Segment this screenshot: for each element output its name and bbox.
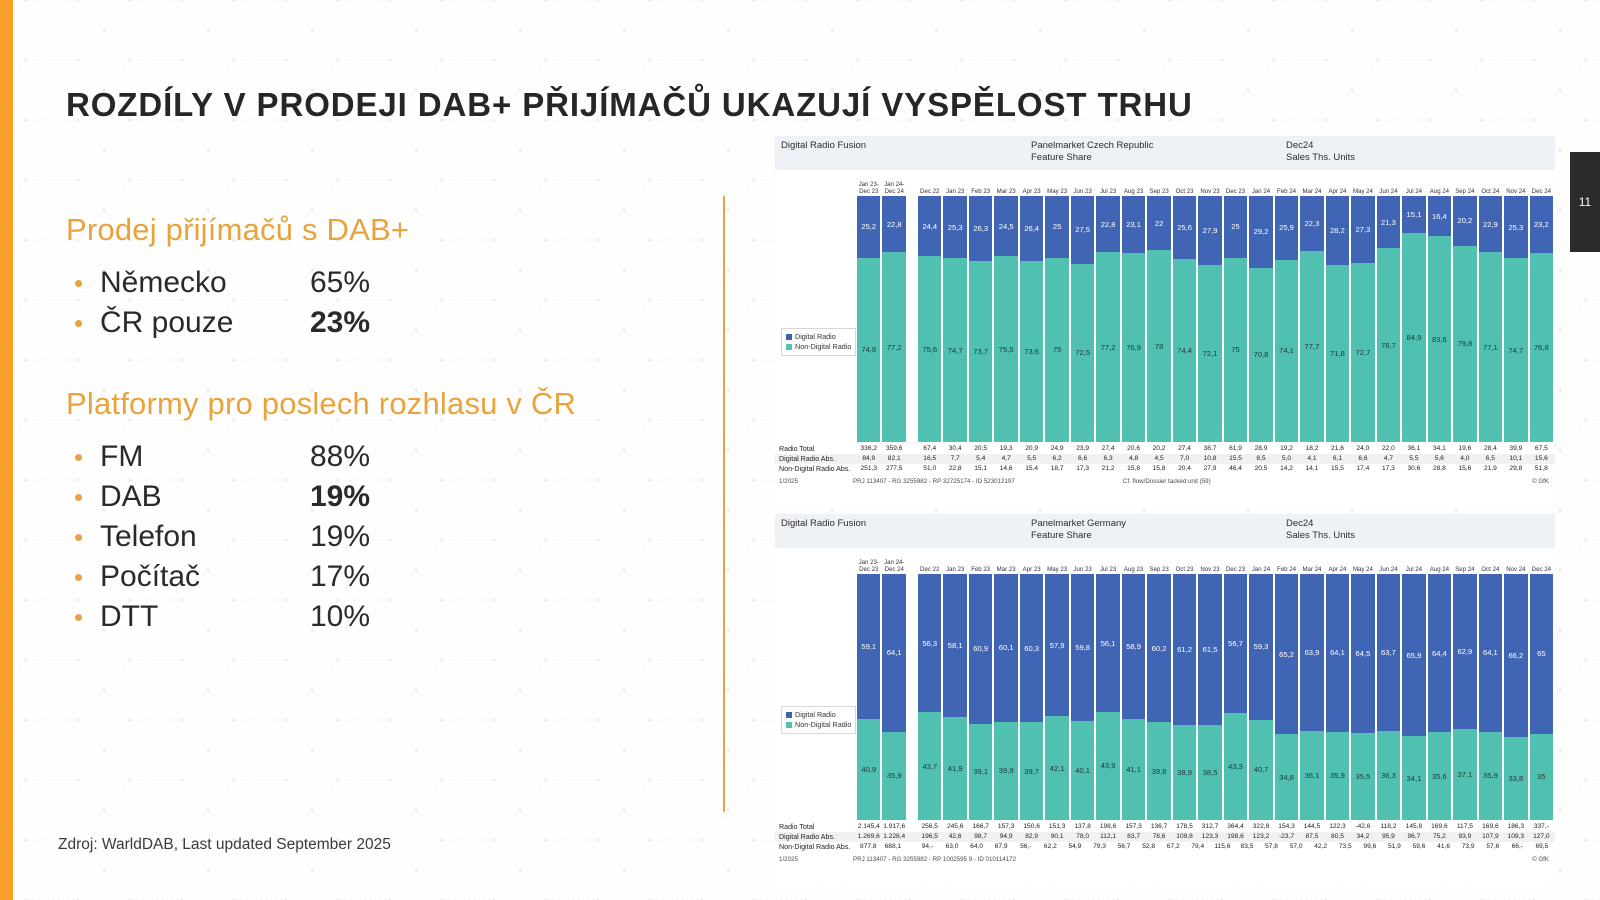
bar-column: Jan 2325,374,7 xyxy=(943,174,966,442)
table-cell: 18,2 xyxy=(1300,444,1323,454)
table-cell: 24,0 xyxy=(1351,444,1374,454)
chart-market-line1: Panelmarket Germany xyxy=(1031,518,1286,530)
x-axis-tick-label: Jun 24 xyxy=(1377,552,1400,574)
bar-segment-digital-radio: 60,3 xyxy=(1020,574,1043,722)
bar-segment-digital-radio: 25,3 xyxy=(1504,196,1527,258)
table-cell: 73,5 xyxy=(1334,842,1357,852)
bar-value-label: 22,9 xyxy=(1483,220,1498,229)
bar-segment-digital-radio: 66,2 xyxy=(1504,574,1527,737)
legend-label: Digital Radio xyxy=(795,332,836,342)
x-axis-tick-label: Jul 24 xyxy=(1402,552,1425,574)
table-cell: 15,5 xyxy=(1224,454,1247,464)
table-cell: 17,4 xyxy=(1351,464,1374,474)
x-axis-tick-label: Mar 23 xyxy=(994,174,1017,196)
bar-stack: 65,234,8 xyxy=(1275,574,1298,820)
bar-column: Dec 232575 xyxy=(1224,174,1247,442)
table-cell: 82,9 xyxy=(1020,832,1043,842)
bar-value-label: 36,3 xyxy=(1381,771,1396,780)
table-cell: 67,5 xyxy=(1530,444,1553,454)
chart-plot-area: Digital RadioNon-Digital RadioJan 23- De… xyxy=(775,170,1555,470)
bar-value-label: 25,9 xyxy=(1279,223,1294,232)
bar-column: Jan 2358,141,9 xyxy=(943,552,966,820)
bar-column: Feb 2465,234,8 xyxy=(1275,552,1298,820)
bar-stack: 64,135,9 xyxy=(1326,574,1349,820)
table-cell: 688,1 xyxy=(882,842,905,852)
chart-data-table: Radio Total336,2359,667,430,420,519,320,… xyxy=(775,444,1555,474)
bar-stack: 65,934,1 xyxy=(1402,574,1425,820)
bar-stack: 59,140,9 xyxy=(857,574,880,820)
table-cell: -42,6 xyxy=(1351,822,1374,832)
bar-value-label: 75 xyxy=(1231,345,1239,354)
table-cell: 90,1 xyxy=(1045,832,1068,842)
bar-value-label: 39,9 xyxy=(999,766,1014,775)
table-cell: 39,9 xyxy=(1504,444,1527,454)
bar-value-label: 27,9 xyxy=(1203,226,1218,235)
x-axis-tick-label: Jan 24- Dec 24 xyxy=(882,552,905,574)
table-cell: 154,3 xyxy=(1275,822,1298,832)
bar-column: Jan 2429,270,8 xyxy=(1249,174,1272,442)
bar-segment-digital-radio: 59,1 xyxy=(857,574,880,719)
x-axis-tick-label: Apr 23 xyxy=(1020,552,1043,574)
chart-period-line2: Sales Ths. Units xyxy=(1286,152,1546,164)
bar-segment-digital-radio: 27,5 xyxy=(1071,196,1094,264)
bar-value-label: 73,7 xyxy=(973,347,988,356)
bar-segment-non-digital-radio: 38,5 xyxy=(1198,725,1221,820)
table-cell: 57,6 xyxy=(1481,842,1504,852)
table-cell: 20,9 xyxy=(1020,444,1043,454)
chart-legend: Digital RadioNon-Digital Radio xyxy=(781,706,856,734)
table-cell: 57,8 xyxy=(1260,842,1283,852)
bar-segment-digital-radio: 60,2 xyxy=(1147,574,1170,722)
bar-column: Apr 2326,473,6 xyxy=(1020,174,1043,442)
bar-segment-digital-radio: 63,7 xyxy=(1377,574,1400,731)
x-axis-tick-label: Jan 23- Dec 23 xyxy=(857,174,880,196)
bar-series-container: Jan 23- Dec 2359,140,9Jan 24- Dec 2464,1… xyxy=(857,552,1553,820)
bar-stack: 27,972,1 xyxy=(1198,196,1221,442)
table-cell: 137,8 xyxy=(1071,822,1094,832)
x-axis-tick-label: May 24 xyxy=(1351,174,1374,196)
bar-stack: 59,340,7 xyxy=(1249,574,1272,820)
bullet-dot-icon: • xyxy=(66,270,100,296)
bar-segment-digital-radio: 25,3 xyxy=(943,196,966,258)
bar-value-label: 39,7 xyxy=(1024,767,1039,776)
x-axis-tick-label: Mar 24 xyxy=(1300,174,1323,196)
chart-footer-copyright: © GfK xyxy=(1515,478,1555,485)
bar-value-label: 40,1 xyxy=(1075,766,1090,775)
bullet-dot-icon: • xyxy=(66,484,100,510)
table-cell: 1.917,6 xyxy=(882,822,905,832)
table-cell: 59,6 xyxy=(1408,842,1431,852)
table-cell: 20,5 xyxy=(969,444,992,454)
x-axis-tick-label: Sep 23 xyxy=(1147,174,1170,196)
table-cell: 78,0 xyxy=(1071,832,1094,842)
bar-value-label: 25 xyxy=(1231,222,1239,231)
chart-footer-copyright: © GfK xyxy=(1515,856,1555,863)
table-cell: 17,3 xyxy=(1071,464,1094,474)
bar-segment-digital-radio: 27,9 xyxy=(1198,196,1221,265)
x-axis-tick-label: Jan 23 xyxy=(943,552,966,574)
bar-value-label: 42,1 xyxy=(1050,764,1065,773)
bar-segment-non-digital-radio: 76,8 xyxy=(1530,253,1553,442)
bar-value-label: 22,8 xyxy=(887,220,902,229)
bar-column: Feb 2360,939,1 xyxy=(969,552,992,820)
bar-segment-non-digital-radio: 83,6 xyxy=(1428,236,1451,442)
table-cell: 157,3 xyxy=(1122,822,1145,832)
chart-footer: 1/2025PRJ 113407 - RG 3255982 - RP 32725… xyxy=(775,478,1555,485)
chart-footer-date: 1/2025 xyxy=(779,478,853,485)
bar-value-label: 39,8 xyxy=(1152,767,1167,776)
table-cell: 30,4 xyxy=(943,444,966,454)
bar-column: Dec 2356,743,3 xyxy=(1224,552,1247,820)
table-row: Radio Total336,2359,667,430,420,519,320,… xyxy=(775,444,1555,454)
table-cell xyxy=(908,822,916,832)
bar-value-label: 24,4 xyxy=(922,222,937,231)
bar-stack: 23,176,9 xyxy=(1122,196,1145,442)
chart-brand: Digital Radio Fusion xyxy=(781,140,1031,152)
x-axis-tick-label: Jan 23 xyxy=(943,174,966,196)
bar-segment-digital-radio: 56,3 xyxy=(918,574,941,712)
bar-value-label: 78 xyxy=(1155,342,1163,351)
chart-legend: Digital RadioNon-Digital Radio xyxy=(781,328,856,356)
bar-segment-digital-radio: 65,9 xyxy=(1402,574,1425,736)
bar-segment-non-digital-radio: 74,8 xyxy=(857,258,880,442)
bar-column: Jul 2356,143,9 xyxy=(1096,552,1119,820)
table-cell: 109,3 xyxy=(1504,832,1527,842)
bar-segment-non-digital-radio: 39,7 xyxy=(1020,722,1043,820)
bar-column: Jul 2465,934,1 xyxy=(1402,552,1425,820)
bar-segment-digital-radio: 56,1 xyxy=(1096,574,1119,712)
table-cell: 79,3 xyxy=(1088,842,1111,852)
page-title: ROZDÍLY V PRODEJI DAB+ PŘIJÍMAČŮ UKAZUJÍ… xyxy=(66,86,1346,124)
bar-value-label: 22,3 xyxy=(1305,219,1320,228)
bar-value-label: 60,1 xyxy=(999,643,1014,652)
bar-value-label: 24,5 xyxy=(999,222,1014,231)
bar-column: Jun 2327,572,5 xyxy=(1071,174,1094,442)
table-cell: 84,9 xyxy=(857,454,880,464)
bar-segment-digital-radio: 26,3 xyxy=(969,196,992,261)
bar-segment-non-digital-radio: 40,9 xyxy=(857,719,880,820)
x-axis-tick-label: Oct 23 xyxy=(1173,552,1196,574)
table-cell: 322,8 xyxy=(1249,822,1272,832)
bar-column: Dec 246535 xyxy=(1530,552,1553,820)
bar-segment-non-digital-radio: 74,1 xyxy=(1275,260,1298,442)
table-cell: 19,3 xyxy=(994,444,1017,454)
table-cell: 166,7 xyxy=(969,822,992,832)
table-cell: 6,6 xyxy=(1071,454,1094,464)
table-cell: -23,7 xyxy=(1275,832,1298,842)
bar-segment-digital-radio: 64,1 xyxy=(1326,574,1349,732)
table-cell: 107,9 xyxy=(1479,832,1502,842)
bar-value-label: 35,9 xyxy=(1483,771,1498,780)
bar-value-label: 61,5 xyxy=(1203,645,1218,654)
x-axis-tick-label: Oct 24 xyxy=(1479,552,1502,574)
bar-column: Jun 2421,378,7 xyxy=(1377,174,1400,442)
table-cell: 34,1 xyxy=(1428,444,1451,454)
bar-column: Jan 24- Dec 2422,877,2 xyxy=(882,174,905,442)
bar-stack: 56,343,7 xyxy=(918,574,941,820)
table-cell: 63,0 xyxy=(941,842,964,852)
bar-segment-non-digital-radio: 73,7 xyxy=(969,261,992,442)
table-cell: 24,9 xyxy=(1045,444,1068,454)
bar-segment-non-digital-radio: 77,1 xyxy=(1479,252,1502,442)
bar-value-label: 43,3 xyxy=(1228,762,1243,771)
chart-market-line1: Panelmarket Czech Republic xyxy=(1031,140,1286,152)
chart-header: Digital Radio FusionPanelmarket GermanyF… xyxy=(775,514,1555,548)
bar-value-label: 23,2 xyxy=(1534,220,1549,229)
bar-segment-digital-radio: 64,5 xyxy=(1351,574,1374,733)
table-cell: 93,9 xyxy=(1453,832,1476,842)
bar-column: May 2357,942,1 xyxy=(1045,552,1068,820)
table-cell: 1.269,6 xyxy=(857,832,880,842)
table-cell: 4,7 xyxy=(1377,454,1400,464)
table-cell: 42,2 xyxy=(1309,842,1332,852)
bar-stack: 61,538,5 xyxy=(1198,574,1221,820)
table-row-label: Digital Radio Abs. xyxy=(775,832,857,842)
bar-segment-digital-radio: 28,2 xyxy=(1326,196,1349,265)
bar-value-label: 29,2 xyxy=(1254,227,1269,236)
bar-segment-digital-radio: 25,6 xyxy=(1173,196,1196,259)
bar-stack: 59,840,1 xyxy=(1071,574,1094,820)
bar-column: Nov 2327,972,1 xyxy=(1198,174,1221,442)
bar-segment-digital-radio: 23,1 xyxy=(1122,196,1145,253)
table-row: Radio Total2.145,41.917,6256,5245,6166,7… xyxy=(775,822,1555,832)
table-cell: 27,4 xyxy=(1096,444,1119,454)
bar-segment-non-digital-radio: 35,5 xyxy=(1351,733,1374,820)
bar-column: Oct 2361,238,9 xyxy=(1173,552,1196,820)
bar-column: Mar 2324,575,5 xyxy=(994,174,1017,442)
page-number: 11 xyxy=(1579,195,1591,209)
table-cell: 4,5 xyxy=(1147,454,1170,464)
x-axis-tick-label: Jan 24- Dec 24 xyxy=(882,174,905,196)
bar-column: Jan 2459,340,7 xyxy=(1249,552,1272,820)
bar-value-label: 77,1 xyxy=(1483,343,1498,352)
chart-period: Dec24Sales Ths. Units xyxy=(1286,140,1546,164)
bar-column: Apr 2360,339,7 xyxy=(1020,552,1043,820)
table-cell: 15,6 xyxy=(1530,454,1553,464)
bar-column: Aug 2358,941,1 xyxy=(1122,552,1145,820)
x-axis-tick-label: Jun 24 xyxy=(1377,174,1400,196)
bar-segment-non-digital-radio: 33,8 xyxy=(1504,737,1527,820)
table-cell: 123,2 xyxy=(1249,832,1272,842)
table-cell: 29,8 xyxy=(1504,464,1527,474)
table-cell: 7,0 xyxy=(1173,454,1196,464)
table-cell: 28,8 xyxy=(1428,464,1451,474)
bar-value-label: 34,1 xyxy=(1407,774,1422,783)
bar-stack: 23,276,8 xyxy=(1530,196,1553,442)
bar-value-label: 64,4 xyxy=(1432,649,1447,658)
table-cell: 27,4 xyxy=(1173,444,1196,454)
table-cell: 169,6 xyxy=(1479,822,1502,832)
bar-value-label: 27,3 xyxy=(1356,225,1371,234)
legend-swatch-icon xyxy=(786,712,792,718)
bar-column xyxy=(908,174,916,442)
legend-swatch-icon xyxy=(786,334,792,340)
bar-segment-digital-radio: 25 xyxy=(1045,196,1068,258)
bar-segment-non-digital-radio: 75 xyxy=(1224,258,1247,443)
bar-value-label: 78,7 xyxy=(1381,341,1396,350)
table-cell: 21,6 xyxy=(1326,444,1349,454)
bar-segment-digital-radio: 61,5 xyxy=(1198,574,1221,725)
bar-value-label: 25,3 xyxy=(948,223,963,232)
bullet-list: •Německo65%•ČR pouze23% xyxy=(66,266,716,340)
table-cell: 169,6 xyxy=(1428,822,1451,832)
bar-segment-digital-radio: 56,7 xyxy=(1224,574,1247,713)
bullet-value: 65% xyxy=(310,266,370,300)
table-cell: 245,6 xyxy=(943,822,966,832)
table-cell: 27,9 xyxy=(1198,464,1221,474)
bar-stack: 22,877,2 xyxy=(882,196,905,442)
bar-value-label: 74,7 xyxy=(948,346,963,355)
x-axis-tick-label: Feb 24 xyxy=(1275,174,1298,196)
bar-segment-digital-radio: 25 xyxy=(1224,196,1247,258)
bar-segment-non-digital-radio: 74,7 xyxy=(943,258,966,442)
bullet-label: ČR pouze xyxy=(100,306,310,340)
bar-segment-non-digital-radio: 78,7 xyxy=(1377,248,1400,442)
table-cell: 67,9 xyxy=(990,842,1013,852)
table-row-label: Digital Radio Abs. xyxy=(775,454,857,464)
bar-stack: 60,239,8 xyxy=(1147,574,1170,820)
bar-column: May 2464,535,5 xyxy=(1351,552,1374,820)
bar-segment-non-digital-radio: 39,8 xyxy=(1147,722,1170,820)
table-cell: 23,9 xyxy=(1071,444,1094,454)
bar-value-label: 58,9 xyxy=(1126,642,1141,651)
bar-stack: 58,141,9 xyxy=(943,574,966,820)
bar-value-label: 27,5 xyxy=(1075,225,1090,234)
table-cell: 109,8 xyxy=(1173,832,1196,842)
bar-value-label: 60,9 xyxy=(973,644,988,653)
bullet-dot-icon: • xyxy=(66,604,100,630)
table-cell: 4,7 xyxy=(994,454,1017,464)
bar-stack: 57,942,1 xyxy=(1045,574,1068,820)
bar-stack: 20,279,8 xyxy=(1453,196,1476,442)
bar-value-label: 59,8 xyxy=(1075,643,1090,652)
bar-segment-non-digital-radio: 43,7 xyxy=(918,712,941,820)
bar-value-label: 65 xyxy=(1537,649,1545,658)
bar-segment-digital-radio: 22 xyxy=(1147,196,1170,250)
table-cell: 83,7 xyxy=(1122,832,1145,842)
table-cell: 67,4 xyxy=(918,444,941,454)
bar-segment-non-digital-radio: 39,1 xyxy=(969,724,992,820)
bar-column: Dec 2224,475,6 xyxy=(918,174,941,442)
bar-segment-digital-radio: 60,9 xyxy=(969,574,992,724)
bar-value-label: 40,7 xyxy=(1254,765,1269,774)
bar-stack: 28,271,8 xyxy=(1326,196,1349,442)
bar-value-label: 21,3 xyxy=(1381,218,1396,227)
bar-value-label: 60,2 xyxy=(1152,644,1167,653)
table-cell: 51,0 xyxy=(918,464,941,474)
table-cell: 256,5 xyxy=(918,822,941,832)
bar-value-label: 35 xyxy=(1537,772,1545,781)
bullet-value: 19% xyxy=(310,480,370,514)
bar-column: Dec 2256,343,7 xyxy=(918,552,941,820)
table-cell: 150,6 xyxy=(1020,822,1043,832)
table-cell: 6,2 xyxy=(1045,454,1068,464)
bar-column: Sep 2462,937,1 xyxy=(1453,552,1476,820)
table-cell: 22,0 xyxy=(1377,444,1400,454)
bar-segment-digital-radio: 58,9 xyxy=(1122,574,1145,719)
bar-segment-digital-radio: 25,9 xyxy=(1275,196,1298,260)
bar-value-label: 75,6 xyxy=(922,345,937,354)
bar-column: Aug 2416,483,6 xyxy=(1428,174,1451,442)
chart-data-table: Radio Total2.145,41.917,6256,5245,6166,7… xyxy=(775,822,1555,852)
table-cell: 277,5 xyxy=(882,464,905,474)
bar-segment-non-digital-radio: 70,8 xyxy=(1249,268,1272,442)
bullet-value: 23% xyxy=(310,306,370,340)
bar-value-label: 15,1 xyxy=(1407,210,1422,219)
bar-segment-non-digital-radio: 35,9 xyxy=(1326,732,1349,820)
bar-segment-non-digital-radio: 72,7 xyxy=(1351,263,1374,442)
bullet-label: FM xyxy=(100,440,310,474)
table-cell: 4,1 xyxy=(1300,454,1323,464)
bar-column: Sep 2360,239,8 xyxy=(1147,552,1170,820)
table-cell: 151,3 xyxy=(1045,822,1068,832)
table-cell: 66,- xyxy=(1506,842,1529,852)
bar-stack: 2575 xyxy=(1224,196,1247,442)
table-cell: 30,6 xyxy=(1402,464,1425,474)
list-item: •FM88% xyxy=(66,440,716,474)
bar-stack: 22,877,2 xyxy=(1096,196,1119,442)
table-cell: 20,2 xyxy=(1147,444,1170,454)
table-cell: 15,4 xyxy=(1020,464,1043,474)
x-axis-tick-label: Dec 24 xyxy=(1530,552,1553,574)
bar-column: Nov 2466,233,8 xyxy=(1504,552,1527,820)
bar-segment-non-digital-radio: 35 xyxy=(1530,734,1553,820)
section-spacer xyxy=(66,346,716,386)
chart-period-line1: Dec24 xyxy=(1286,518,1546,530)
table-cell: 157,3 xyxy=(994,822,1017,832)
table-cell: 10,8 xyxy=(1198,454,1221,464)
table-cell: 2.145,4 xyxy=(857,822,880,832)
bar-segment-non-digital-radio: 35,9 xyxy=(882,732,905,820)
section-heading: Platformy pro poslech rozhlasu v ČR xyxy=(66,386,716,422)
chart-brand: Digital Radio Fusion xyxy=(781,518,1031,530)
table-cell: 6,1 xyxy=(1326,454,1349,464)
bar-column: Jun 2463,736,3 xyxy=(1377,552,1400,820)
table-cell xyxy=(908,454,916,464)
table-cell: 19,2 xyxy=(1275,444,1298,454)
bullet-dot-icon: • xyxy=(66,564,100,590)
bar-stack: 63,736,3 xyxy=(1377,574,1400,820)
bar-value-label: 25,2 xyxy=(861,222,876,231)
bar-value-label: 23,1 xyxy=(1126,220,1141,229)
table-cell: 57,0 xyxy=(1285,842,1308,852)
bar-value-label: 56,3 xyxy=(922,639,937,648)
table-cell: 5,5 xyxy=(1020,454,1043,464)
table-cell: 198,6 xyxy=(1224,832,1247,842)
x-axis-tick-label: Jul 23 xyxy=(1096,552,1119,574)
bar-stack: 24,475,6 xyxy=(918,196,941,442)
bar-value-label: 34,8 xyxy=(1279,773,1294,782)
table-row-label: Radio Total xyxy=(775,822,857,832)
bar-stack: 25,274,8 xyxy=(857,196,880,442)
table-cell: 19,6 xyxy=(1453,444,1476,454)
bar-segment-digital-radio: 65,2 xyxy=(1275,574,1298,734)
bar-stack: 29,270,8 xyxy=(1249,196,1272,442)
table-cell: 21,9 xyxy=(1479,464,1502,474)
x-axis-tick-label: Sep 24 xyxy=(1453,174,1476,196)
bar-column: Dec 2423,276,8 xyxy=(1530,174,1553,442)
table-cell: 18,7 xyxy=(1045,464,1068,474)
x-axis-tick-label: Nov 23 xyxy=(1198,174,1221,196)
table-cell: 1.228,4 xyxy=(882,832,905,842)
bar-segment-non-digital-radio: 39,9 xyxy=(994,722,1017,820)
table-cell: 20,6 xyxy=(1122,444,1145,454)
table-cell: 122,3 xyxy=(1326,822,1349,832)
bar-segment-non-digital-radio: 76,9 xyxy=(1122,253,1145,442)
bar-value-label: 83,6 xyxy=(1432,335,1447,344)
table-cell: 15,5 xyxy=(1326,464,1349,474)
bar-value-label: 74,8 xyxy=(861,345,876,354)
